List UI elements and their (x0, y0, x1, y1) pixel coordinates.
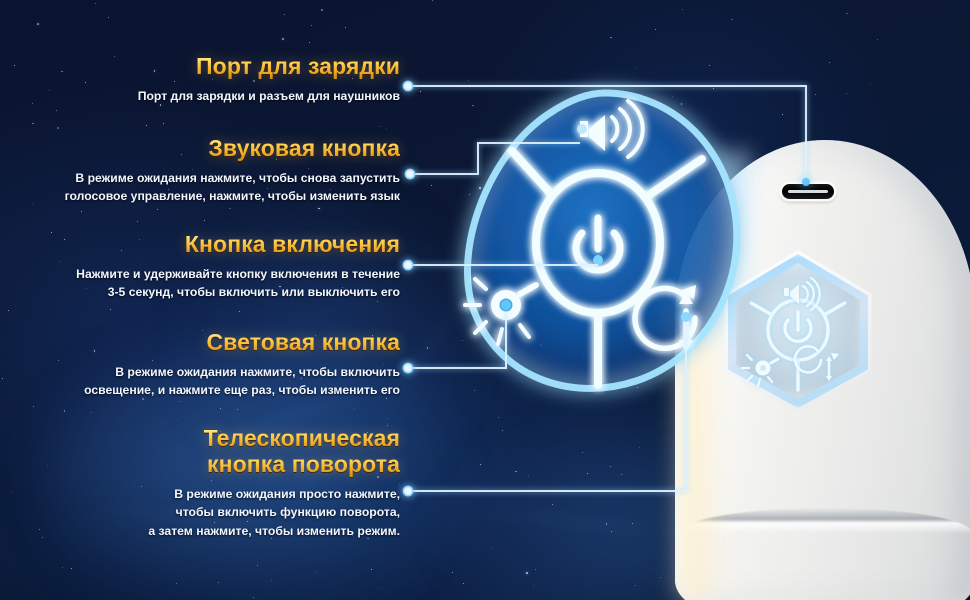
feature-desc-line: В режиме ожидания просто нажмите, (148, 485, 400, 504)
star (484, 188, 485, 189)
star (567, 335, 568, 336)
star (474, 390, 475, 391)
pad-separator-top (751, 303, 772, 315)
star (612, 286, 613, 287)
feature-block-light-button: Световая кнопка В режиме ожидания нажмит… (84, 330, 400, 400)
feature-desc-line: голосовое управление, нажмите, чтобы изм… (65, 187, 400, 206)
star (552, 504, 553, 505)
rotation-icon (795, 346, 839, 381)
connector-light-button (408, 312, 506, 368)
feature-description-light-button: В режиме ожидания нажмите, чтобы включит… (84, 363, 400, 400)
star (611, 531, 612, 532)
star (607, 136, 608, 137)
star (713, 88, 714, 89)
star (472, 105, 474, 107)
panel-outline (468, 93, 737, 388)
star (637, 387, 638, 388)
star (644, 210, 646, 212)
star (635, 68, 637, 70)
feature-block-rotation-button: Телескопическая кнопка поворота В режиме… (148, 426, 400, 540)
star (620, 361, 621, 362)
star (490, 142, 491, 143)
diagram-power-ring (536, 173, 660, 313)
star (679, 267, 680, 268)
star (462, 340, 463, 341)
diagram-spoke-right (646, 159, 702, 197)
star (515, 471, 517, 473)
nebula-wisp (431, 505, 710, 536)
star (526, 572, 528, 574)
star (554, 154, 555, 155)
star (468, 80, 469, 81)
star (641, 318, 642, 319)
star (655, 29, 656, 30)
star (582, 452, 583, 453)
feature-block-sound-button: Звуковая кнопка В режиме ожидания нажмит… (65, 136, 400, 206)
product-warm-highlight (666, 300, 726, 600)
feature-block-charging-port: Порт для зарядки Порт для зарядки и разъ… (138, 54, 400, 105)
feature-text-column: Порт для зарядки Порт для зарядки и разъ… (0, 0, 410, 600)
feature-desc-line: Порт для зарядки и разъем для наушников (138, 87, 400, 106)
star (610, 466, 611, 467)
connector-rotation-button (408, 322, 686, 491)
star (877, 39, 878, 40)
star (642, 361, 643, 362)
connector-charging-port (408, 86, 806, 182)
power-icon (576, 218, 620, 270)
feature-description-sound-button: В режиме ожидания нажмите, чтобы снова з… (65, 169, 400, 206)
star (606, 523, 608, 525)
star (632, 523, 633, 524)
infographic-stage: Порт для зарядки Порт для зарядки и разъ… (0, 0, 970, 600)
star (427, 347, 429, 349)
star (624, 162, 625, 163)
feature-desc-line: В режиме ожидания нажмите, чтобы включит… (84, 363, 400, 382)
star (846, 13, 848, 15)
star (681, 103, 683, 105)
feature-desc-line: чтобы включить функцию поворота, (148, 503, 400, 522)
pad-separator-right (824, 303, 845, 315)
rotation-connector-node (681, 312, 691, 322)
star (550, 319, 551, 320)
light-bulb-icon (465, 279, 536, 344)
light-connector-node (501, 300, 511, 310)
product-seam-line (678, 508, 970, 534)
star (660, 577, 662, 579)
device-control-pad[interactable] (718, 250, 878, 412)
feature-title-rotation-button-line2: кнопка поворота (148, 452, 400, 478)
star (492, 547, 493, 548)
feature-desc-line: В режиме ожидания нажмите, чтобы снова з… (65, 169, 400, 188)
star (469, 194, 470, 195)
star (498, 417, 499, 418)
star (635, 585, 636, 586)
star (480, 464, 482, 466)
star (533, 585, 534, 586)
feature-title-charging-port: Порт для зарядки (138, 54, 400, 80)
rotation-icon (635, 285, 696, 351)
star (626, 187, 627, 188)
feature-desc-line: а затем нажмите, чтобы изменить режим. (148, 522, 400, 541)
light-bulb-icon (742, 355, 778, 386)
star (610, 226, 611, 227)
star (576, 291, 577, 292)
star (679, 338, 680, 339)
star (452, 572, 453, 573)
feature-block-power-button: Кнопка включения Нажмите и удерживайте к… (76, 232, 400, 302)
star (525, 260, 526, 261)
star (420, 91, 421, 92)
star (870, 83, 871, 84)
star (528, 475, 529, 476)
speaker-icon (577, 101, 643, 157)
star (615, 118, 616, 119)
star (610, 37, 612, 39)
feature-desc-line: 3-5 секунд, чтобы включить или выключить… (76, 283, 400, 302)
star (829, 62, 830, 63)
star (815, 94, 816, 95)
feature-desc-line: Нажмите и удерживайте кнопку включения в… (76, 265, 400, 284)
star (578, 171, 579, 172)
star (639, 447, 640, 448)
diagram-spoke-left (512, 151, 552, 195)
feature-description-rotation-button: В режиме ожидания просто нажмите, чтобы … (148, 485, 400, 541)
star (469, 86, 470, 87)
star (572, 132, 573, 133)
power-icon (785, 312, 811, 341)
star (515, 296, 517, 298)
nebula-glow-bottom (430, 430, 810, 600)
speaker-connector-node (577, 124, 587, 134)
feature-description-power-button: Нажмите и удерживайте кнопку включения в… (76, 265, 400, 302)
connector-sound-button (410, 143, 580, 174)
usb-c-charging-port[interactable] (782, 184, 834, 199)
star (583, 354, 585, 356)
star (621, 474, 622, 475)
star (672, 96, 673, 97)
star (479, 187, 481, 189)
star (431, 185, 432, 186)
feature-title-sound-button: Звуковая кнопка (65, 136, 400, 162)
feature-description-charging-port: Порт для зарядки и разъем для наушников (138, 87, 400, 106)
star (661, 313, 663, 315)
star (540, 344, 542, 346)
star (677, 485, 679, 487)
star (432, 0, 433, 1)
star (463, 583, 464, 584)
star (587, 473, 588, 474)
star (846, 93, 847, 94)
feature-title-power-button: Кнопка включения (76, 232, 400, 258)
star (682, 9, 683, 10)
star (782, 114, 783, 115)
star (709, 65, 710, 66)
feature-desc-line: освещение, и нажмите еще раз, чтобы изме… (84, 381, 400, 400)
star (602, 282, 604, 284)
star (731, 19, 733, 21)
star (502, 430, 503, 431)
star (535, 569, 536, 570)
star (584, 146, 585, 147)
power-connector-node (593, 255, 603, 265)
feature-title-light-button: Световая кнопка (84, 330, 400, 356)
feature-title-rotation-button-line1: Телескопическая (148, 426, 400, 452)
